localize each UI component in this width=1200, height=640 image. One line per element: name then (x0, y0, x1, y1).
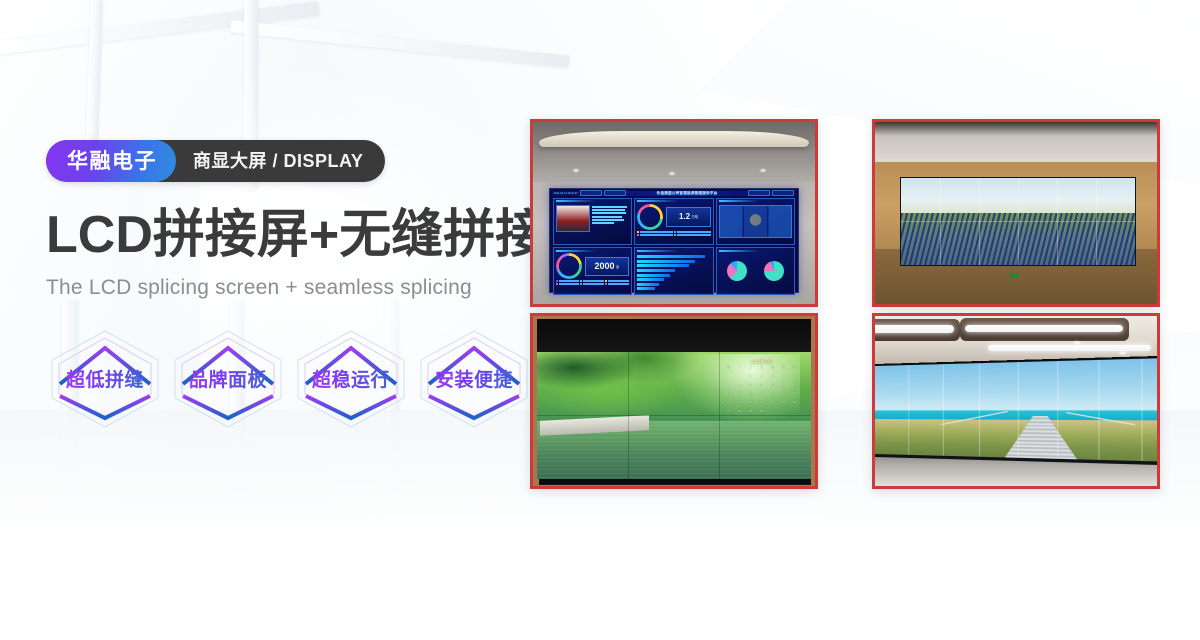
headline-block: 华融电子 商显大屏 / DISPLAY LCD拼接屏+无缝拼接 The LCD … (46, 140, 546, 432)
calendar-day: 24 (767, 401, 778, 409)
bar (637, 278, 664, 281)
flow-diagram (719, 205, 793, 238)
downlight-icon (572, 168, 580, 173)
photo-solar-farm-video-wall[interactable] (872, 119, 1160, 307)
calendar-day: 23 (756, 401, 767, 409)
feature-hexagon-row: 超低拼缝 品牌面板 (46, 326, 546, 432)
calendar-day: 21 (734, 401, 745, 409)
donut-chart (556, 253, 582, 279)
kpi-mid-value: 2000 亩 (585, 257, 630, 276)
lcd-video-wall: 2021年 6月 日 一 二 三 四 五 六 1 2 3 4 (537, 352, 811, 480)
calendar-title: 2021年 6月 (723, 359, 800, 365)
kpi-number: 2000 (594, 261, 614, 271)
dashboard-panel-bar-chart (634, 247, 714, 295)
calendar-day: 20 (723, 401, 734, 409)
calendar-day: 11 (778, 384, 789, 392)
calendar-day: 7 (734, 384, 745, 392)
dashboard-panel-area-ratio: 2000 亩 (553, 247, 633, 295)
promo-banner: 华融电子 商显大屏 / DISPLAY LCD拼接屏+无缝拼接 The LCD … (0, 0, 1200, 640)
ceiling-light-strip (965, 325, 1123, 333)
feature-label: 安装便捷 (435, 365, 513, 392)
calendar-day: 18 (778, 392, 789, 400)
calendar-day: 4 (778, 375, 789, 383)
calendar-weekday: 三 (756, 366, 767, 374)
dashboard-panel-base-intro (553, 198, 633, 246)
calendar-weekday: 六 (789, 366, 800, 374)
kpi-number: 1.2 (679, 212, 690, 221)
photo-willow-lake-video-wall[interactable]: 2021年 6月 日 一 二 三 四 五 六 1 2 3 4 (530, 313, 818, 489)
feature-label: 品牌面板 (189, 365, 267, 392)
calendar-day: 5 (789, 375, 800, 383)
feature-label: 超低拼缝 (66, 365, 144, 392)
calendar-day (734, 375, 745, 383)
category-pill: 商显大屏 / DISPLAY (176, 140, 385, 182)
calendar-weekday: 日 (723, 366, 734, 374)
downlight-icon (759, 168, 767, 173)
dashboard-timestamp: 2021-04-13 16:01:27 (554, 192, 578, 195)
calendar-day: 22 (745, 401, 756, 409)
calendar-day: 26 (789, 401, 800, 409)
photo-dashboard-video-wall[interactable]: 2021-04-13 16:01:27 永昌集团公司智慧能源管理服务平台 (530, 119, 818, 307)
calendar-day: 6 (723, 384, 734, 392)
brand-name: 华融电子 (67, 151, 157, 172)
calendar-day: 27 (723, 410, 734, 418)
panel-thumbnail (556, 205, 590, 232)
calendar-day: 9 (756, 384, 767, 392)
calendar-day: 1 (745, 375, 756, 383)
bezel-seam (901, 221, 1135, 222)
bar (637, 283, 659, 286)
feature-label: 超稳运行 (312, 365, 390, 392)
calendar-day: 8 (745, 384, 756, 392)
calendar-day: 19 (789, 392, 800, 400)
bezel-seam (875, 410, 1157, 411)
calendar-day: 28 (734, 410, 745, 418)
calendar-day: 17 (767, 392, 778, 400)
calendar-weekday: 二 (745, 366, 756, 374)
exit-sign-icon (1010, 273, 1019, 278)
calendar-day: 10 (767, 384, 778, 392)
feature-hexagon-1[interactable]: 品牌面板 (169, 326, 287, 432)
calendar-day: 13 (723, 392, 734, 400)
ceiling-light-strip (988, 345, 1152, 351)
brand-tag-group: 华融电子 商显大屏 / DISPLAY (46, 140, 385, 182)
calendar-weekday: 五 (778, 366, 789, 374)
calendar-day: 30 (756, 410, 767, 418)
category-label: 商显大屏 / DISPLAY (193, 152, 363, 170)
bar (637, 274, 669, 277)
page-subtitle: The LCD splicing screen + seamless splic… (46, 276, 546, 300)
dashboard-panel-energy-stats: 1.2 万吨 (634, 198, 714, 246)
kpi-big-value: 1.2 万吨 (666, 207, 711, 227)
bar (637, 264, 689, 267)
bezel-seam (537, 415, 811, 416)
calendar-day: 14 (734, 392, 745, 400)
downlight-icon (1118, 350, 1128, 356)
calendar-weekday: 四 (767, 366, 778, 374)
page-title: LCD拼接屏+无缝拼接 (46, 208, 546, 263)
feature-hexagon-2[interactable]: 超稳运行 (292, 326, 410, 432)
lcd-video-wall (875, 354, 1157, 466)
feature-hexagon-3[interactable]: 安装便捷 (415, 326, 533, 432)
screen-sky (875, 357, 1157, 414)
pie-chart (727, 261, 747, 281)
calendar-day (723, 375, 734, 383)
calendar-weekday: 一 (734, 366, 745, 374)
donut-chart (637, 204, 663, 230)
lcd-video-wall: 2021-04-13 16:01:27 永昌集团公司智慧能源管理服务平台 (549, 188, 800, 294)
calendar-day: 3 (767, 375, 778, 383)
calendar-day: 16 (756, 392, 767, 400)
calendar-day: 12 (789, 384, 800, 392)
calendar-day: 25 (778, 401, 789, 409)
calendar-day: 29 (745, 410, 756, 418)
bar (637, 269, 675, 272)
kpi-unit: 万吨 (692, 214, 698, 219)
dashboard-panel-eco-flow (716, 198, 796, 246)
bar (637, 260, 694, 263)
calendar-day: 2 (756, 375, 767, 383)
dashboard-panel-grid: 1.2 万吨 (552, 196, 797, 297)
lcd-video-wall (900, 177, 1136, 266)
ceiling-light-strip (875, 325, 954, 334)
ceiling-cove-light (539, 131, 810, 147)
brand-pill: 华融电子 (46, 140, 176, 182)
pie-chart (764, 261, 784, 281)
bar (637, 255, 705, 258)
kpi-unit: 亩 (616, 264, 619, 269)
photo-beach-boardwalk-video-wall[interactable] (872, 313, 1160, 489)
upper-blank-row (537, 319, 811, 351)
calendar-overlay: 2021年 6月 日 一 二 三 四 五 六 1 2 3 4 (723, 359, 800, 418)
dashboard-panel-pie-stats (716, 247, 796, 295)
feature-hexagon-0[interactable]: 超低拼缝 (46, 326, 164, 432)
calendar-grid: 日 一 二 三 四 五 六 1 2 3 4 5 6 (723, 366, 800, 418)
calendar-day: 15 (745, 392, 756, 400)
bar (637, 287, 655, 290)
